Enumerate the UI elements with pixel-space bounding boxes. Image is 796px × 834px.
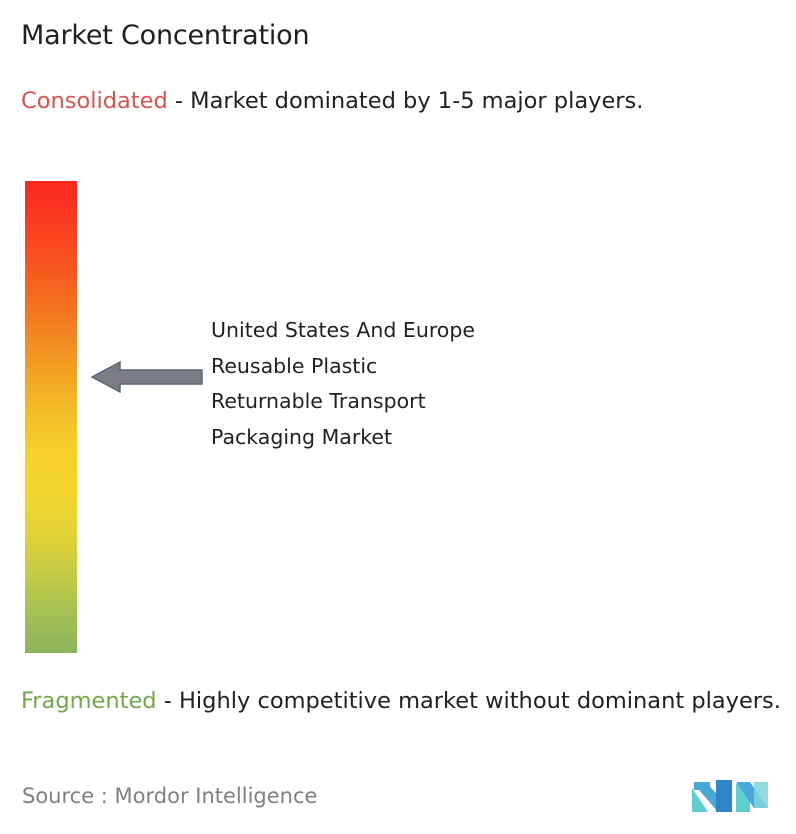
legend-consolidated-key: Consolidated [21,88,168,114]
left-arrow-icon [90,358,204,396]
legend-fragmented-key: Fragmented [21,688,157,714]
callout-line-1: United States And Europe [211,313,641,349]
mordor-intelligence-logo-icon [692,768,774,816]
market-concentration-scale-bar [25,181,77,653]
callout-market-label: United States And Europe Reusable Plasti… [211,313,641,455]
callout-line-4: Packaging Market [211,420,641,456]
legend-fragmented: Fragmented - Highly competitive market w… [21,685,796,717]
callout-line-2: Reusable Plastic [211,349,641,385]
page-title: Market Concentration [21,19,309,53]
legend-fragmented-description: - Highly competitive market without domi… [157,688,781,714]
legend-consolidated: Consolidated - Market dominated by 1-5 m… [21,85,791,117]
source-attribution: Source : Mordor Intelligence [22,782,317,810]
callout-line-3: Returnable Transport [211,384,641,420]
legend-consolidated-description: - Market dominated by 1-5 major players. [168,88,644,114]
